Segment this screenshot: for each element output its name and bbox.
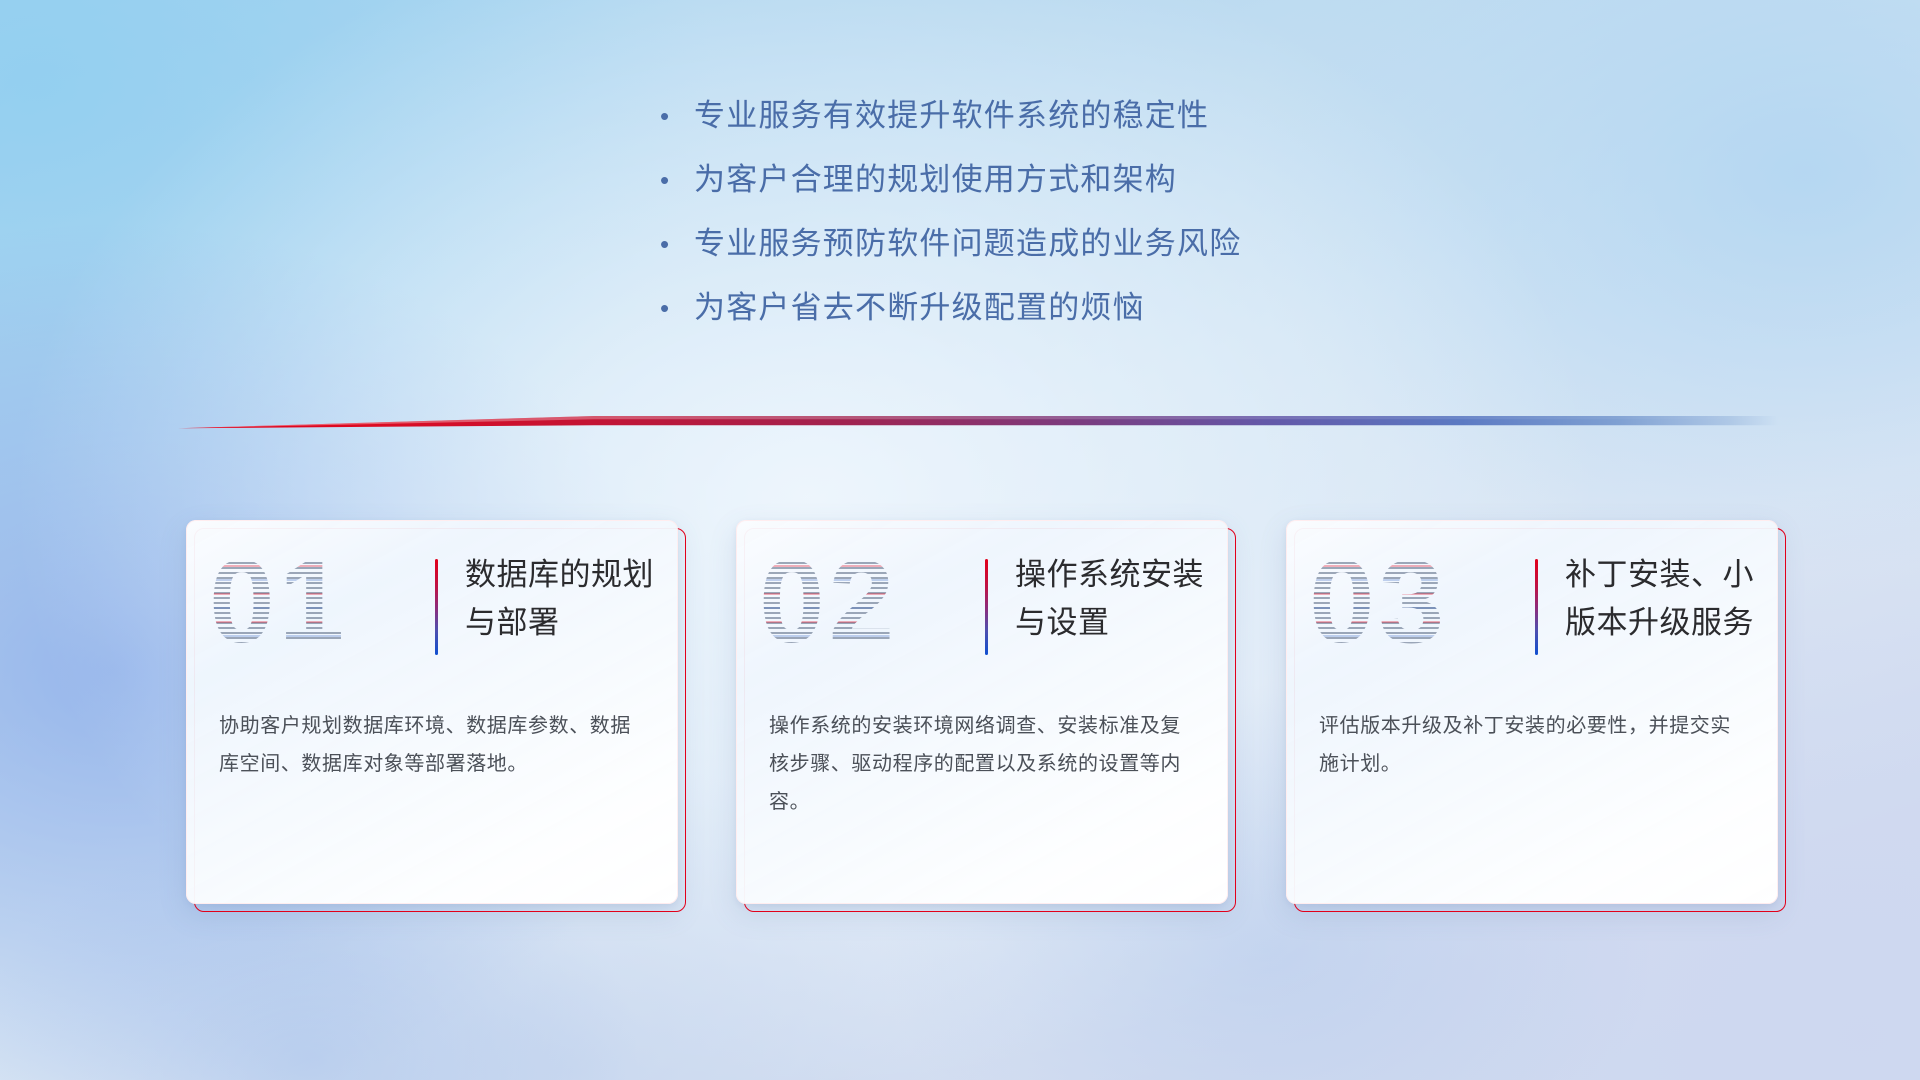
- card-title-rule: [435, 559, 438, 655]
- bullet-text: 为客户省去不断升级配置的烦恼: [694, 288, 1145, 328]
- list-item: • 专业服务预防软件问题造成的业务风险: [660, 224, 1520, 288]
- card-number-ghost-tint: 01: [209, 537, 348, 667]
- bullet-marker-icon: •: [660, 160, 694, 200]
- bullet-text: 专业服务有效提升软件系统的稳定性: [694, 96, 1209, 136]
- card-title-line: 与部署: [465, 599, 661, 647]
- benefits-bullet-list: • 专业服务有效提升软件系统的稳定性 • 为客户合理的规划使用方式和架构 • 专…: [660, 96, 1520, 352]
- service-card-03[interactable]: 03 03 补丁安装、小 版本升级服务 评估版本升级及补丁安装的必要性，并提交实…: [1286, 520, 1778, 904]
- card-title-line: 操作系统安装: [1015, 551, 1211, 599]
- card-body-text: 协助客户规划数据库环境、数据库参数、数据库空间、数据库对象等部署落地。: [219, 707, 649, 783]
- card-body-text: 评估版本升级及补丁安装的必要性，并提交实施计划。: [1319, 707, 1749, 783]
- bullet-marker-icon: •: [660, 224, 694, 264]
- card-title: 补丁安装、小 版本升级服务: [1565, 551, 1761, 647]
- list-item: • 为客户省去不断升级配置的烦恼: [660, 288, 1520, 352]
- card-title-rule: [1535, 559, 1538, 655]
- bullet-text: 为客户合理的规划使用方式和架构: [694, 160, 1177, 200]
- bullet-marker-icon: •: [660, 288, 694, 328]
- service-card-02[interactable]: 02 02 操作系统安装 与设置 操作系统的安装环境网络调查、安装标准及复核步骤…: [736, 520, 1228, 904]
- card-title-line: 补丁安装、小: [1565, 551, 1761, 599]
- bullet-marker-icon: •: [660, 96, 694, 136]
- card-title: 操作系统安装 与设置: [1015, 551, 1211, 647]
- card-surface: 03 03 补丁安装、小 版本升级服务 评估版本升级及补丁安装的必要性，并提交实…: [1286, 520, 1778, 904]
- card-number-ghost-tint: 02: [759, 537, 898, 667]
- card-title-line: 版本升级服务: [1565, 599, 1761, 647]
- card-body-text: 操作系统的安装环境网络调查、安装标准及复核步骤、驱动程序的配置以及系统的设置等内…: [769, 707, 1199, 821]
- section-divider: [178, 412, 1778, 438]
- service-card-group: 01 01 数据库的规划 与部署 协助客户规划数据库环境、数据库参数、数据库空间…: [186, 520, 1746, 916]
- card-title-line: 与设置: [1015, 599, 1211, 647]
- service-card-01[interactable]: 01 01 数据库的规划 与部署 协助客户规划数据库环境、数据库参数、数据库空间…: [186, 520, 678, 904]
- card-surface: 01 01 数据库的规划 与部署 协助客户规划数据库环境、数据库参数、数据库空间…: [186, 520, 678, 904]
- list-item: • 专业服务有效提升软件系统的稳定性: [660, 96, 1520, 160]
- card-title-rule: [985, 559, 988, 655]
- card-title-line: 数据库的规划: [465, 551, 661, 599]
- card-number-ghost-tint: 03: [1309, 537, 1448, 667]
- card-title: 数据库的规划 与部署: [465, 551, 661, 647]
- bullet-text: 专业服务预防软件问题造成的业务风险: [694, 224, 1241, 264]
- list-item: • 为客户合理的规划使用方式和架构: [660, 160, 1520, 224]
- card-surface: 02 02 操作系统安装 与设置 操作系统的安装环境网络调查、安装标准及复核步骤…: [736, 520, 1228, 904]
